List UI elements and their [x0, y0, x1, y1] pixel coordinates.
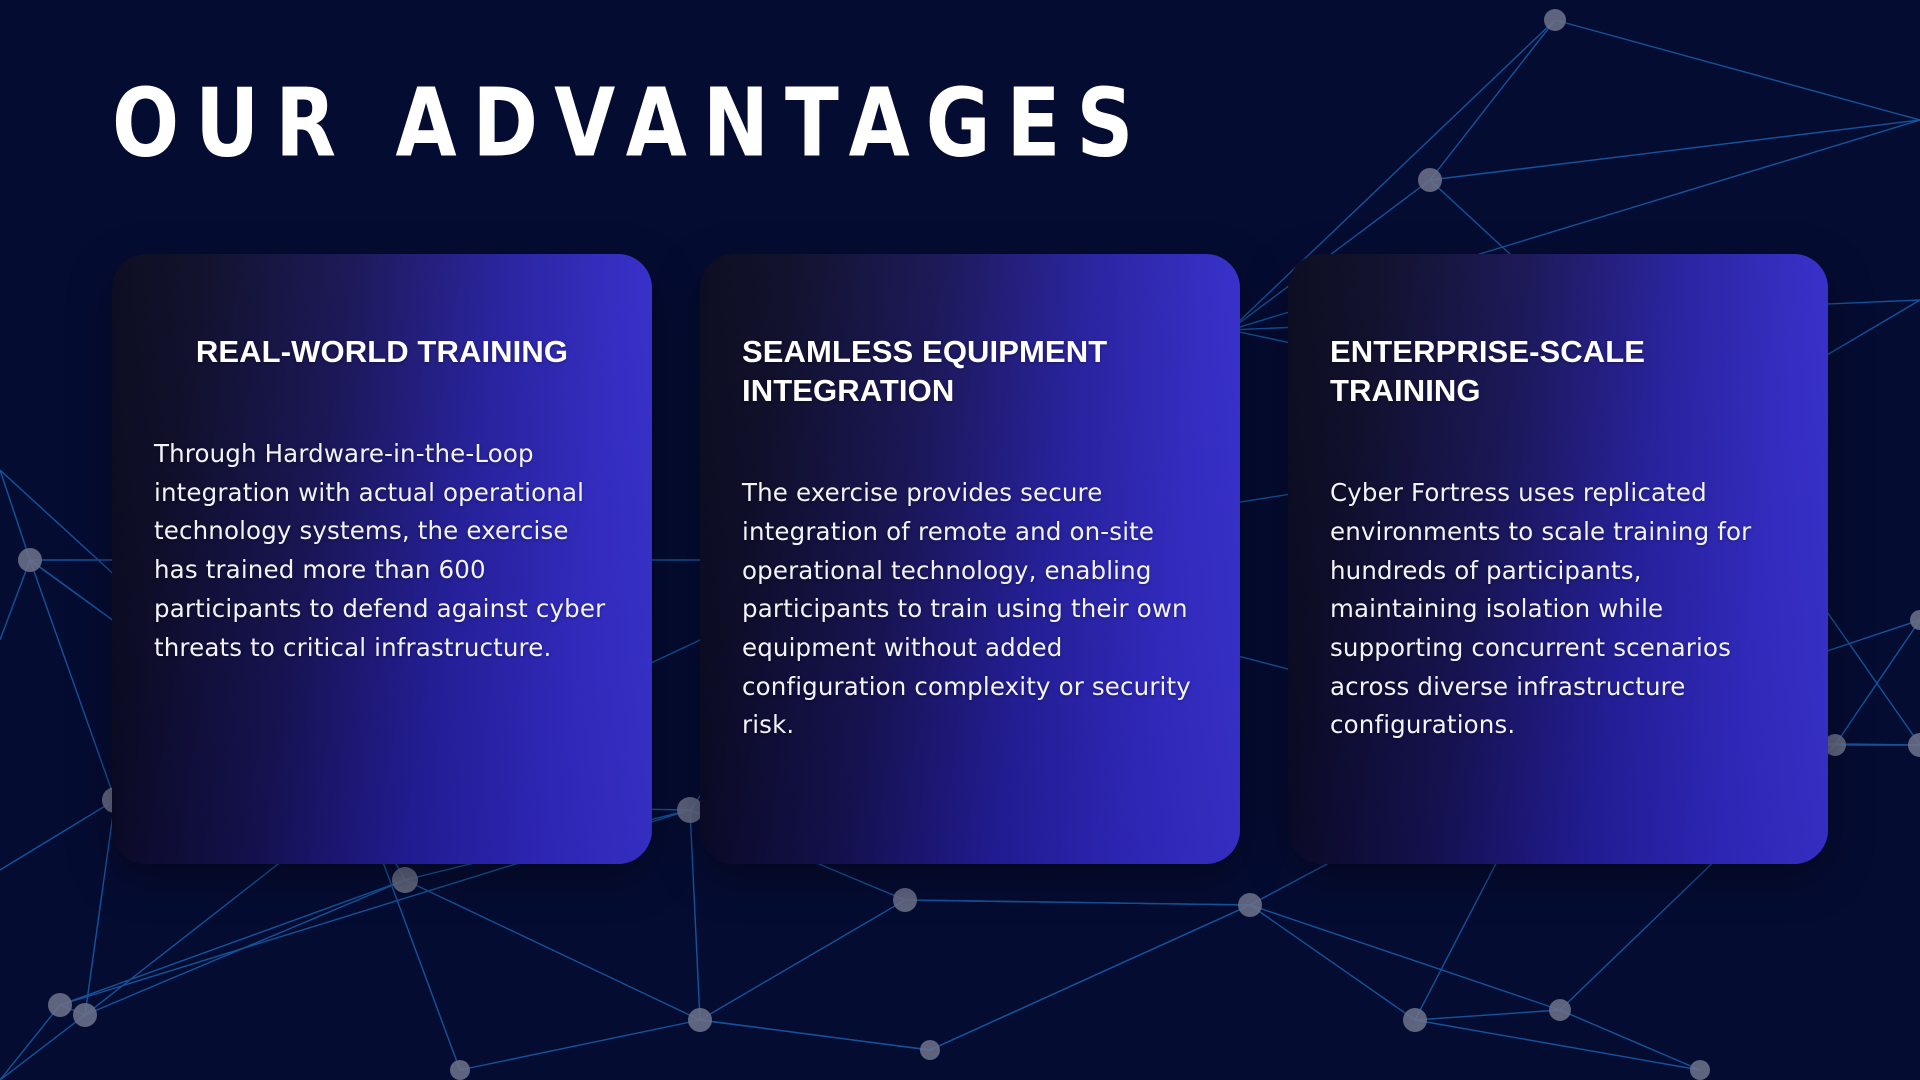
- card-content: ENTERPRISE-SCALE TRAINING Cyber Fortress…: [1288, 254, 1828, 864]
- advantage-card[interactable]: ENTERPRISE-SCALE TRAINING Cyber Fortress…: [1288, 254, 1828, 864]
- card-title: SEAMLESS EQUIPMENT INTEGRATION: [742, 332, 1198, 410]
- page-title: OUR ADVANTAGES: [112, 76, 1149, 170]
- card-body-text: The exercise provides secure integration…: [742, 474, 1198, 745]
- card-title: REAL-WORLD TRAINING: [154, 332, 610, 371]
- card-body-text: Through Hardware-in-the-Loop integration…: [154, 435, 610, 667]
- card-content: SEAMLESS EQUIPMENT INTEGRATION The exerc…: [700, 254, 1240, 864]
- card-body-text: Cyber Fortress uses replicated environme…: [1330, 474, 1786, 745]
- card-content: REAL-WORLD TRAINING Through Hardware-in-…: [112, 254, 652, 864]
- advantage-card[interactable]: SEAMLESS EQUIPMENT INTEGRATION The exerc…: [700, 254, 1240, 864]
- slide-root: OUR ADVANTAGES REAL-WORLD TRAINING Throu…: [0, 0, 1920, 1080]
- card-title: ENTERPRISE-SCALE TRAINING: [1330, 332, 1786, 410]
- advantage-card-list: REAL-WORLD TRAINING Through Hardware-in-…: [0, 254, 1920, 874]
- advantage-card[interactable]: REAL-WORLD TRAINING Through Hardware-in-…: [112, 254, 652, 864]
